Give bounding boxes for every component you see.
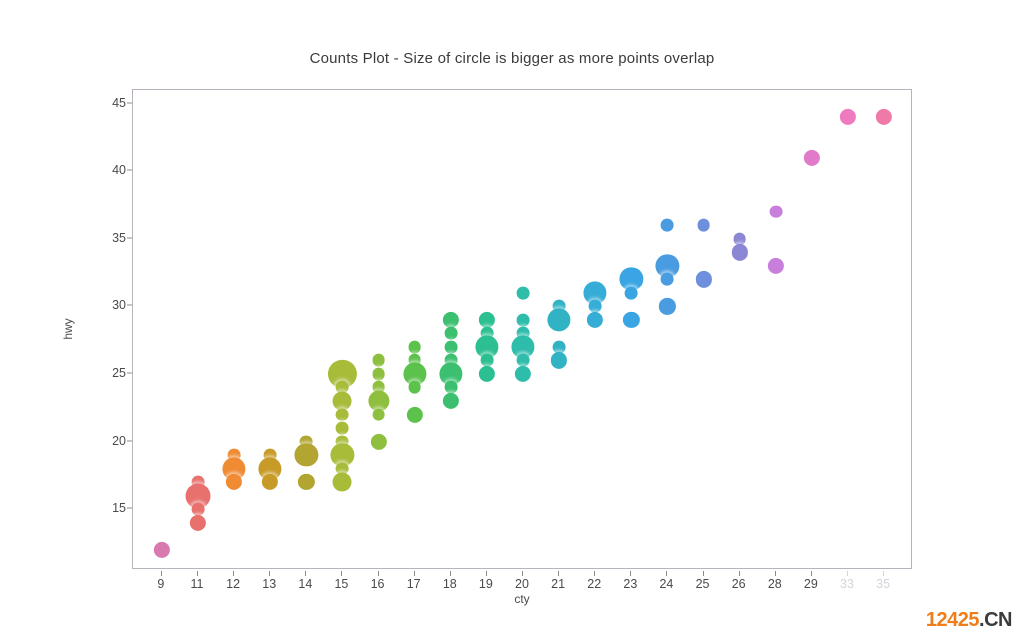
- x-axis-tick-label: 22: [587, 577, 601, 591]
- scatter-point: [333, 473, 352, 492]
- scatter-point: [372, 368, 385, 381]
- x-axis-tick-mark: [739, 571, 740, 576]
- scatter-point: [551, 352, 567, 368]
- y-axis-tick-label: 35: [112, 231, 126, 245]
- x-axis-tick-mark: [269, 571, 270, 576]
- scatter-point: [336, 408, 349, 421]
- scatter-point: [444, 327, 457, 340]
- figure-canvas: Counts Plot - Size of circle is bigger a…: [0, 0, 1024, 640]
- x-axis-tick-label: 29: [804, 577, 818, 591]
- scatter-point: [295, 443, 318, 466]
- page-title: Counts Plot - Size of circle is bigger a…: [0, 50, 1024, 67]
- y-axis-label: hwy: [61, 318, 75, 339]
- scatter-point: [661, 273, 674, 286]
- x-axis-tick-mark: [486, 571, 487, 576]
- scatter-point: [695, 271, 711, 287]
- x-axis-tick-mark: [450, 571, 451, 576]
- x-axis-tick-mark: [630, 571, 631, 576]
- scatter-point: [190, 515, 206, 531]
- scatter-point: [659, 298, 675, 314]
- x-axis-tick-mark: [558, 571, 559, 576]
- y-axis-ticks: 15202530354045: [92, 89, 126, 569]
- x-axis-tick-mark: [161, 571, 162, 576]
- watermark-suffix: .CN: [979, 609, 1012, 631]
- x-axis-tick-mark: [883, 571, 884, 576]
- plot-area: [132, 89, 912, 569]
- x-axis-tick-label: 24: [659, 577, 673, 591]
- scatter-point: [625, 286, 638, 299]
- scatter-point: [517, 313, 530, 326]
- x-axis-tick-mark: [666, 571, 667, 576]
- scatter-point: [154, 542, 170, 558]
- x-axis-tick-mark: [847, 571, 848, 576]
- x-axis-tick-label: 28: [768, 577, 782, 591]
- x-axis-tick-label: 18: [443, 577, 457, 591]
- y-axis-tick-label: 20: [112, 434, 126, 448]
- y-axis-tick-label: 40: [112, 163, 126, 177]
- x-axis-tick-mark: [233, 571, 234, 576]
- x-axis-tick-label: 17: [407, 577, 421, 591]
- x-axis-tick-label: 20: [515, 577, 529, 591]
- x-axis-tick-label: 35: [876, 577, 890, 591]
- scatter-point: [479, 312, 495, 328]
- x-axis-tick-label: 9: [157, 577, 164, 591]
- scatter-point: [408, 381, 421, 394]
- scatter-point: [336, 422, 349, 435]
- x-axis-tick-label: 16: [371, 577, 385, 591]
- x-axis-tick-mark: [594, 571, 595, 576]
- scatter-point: [840, 109, 856, 125]
- scatter-point: [769, 205, 782, 218]
- scatter-point: [804, 149, 820, 165]
- scatter-points-layer: [133, 90, 911, 568]
- scatter-point: [876, 109, 892, 125]
- scatter-point: [697, 219, 710, 232]
- x-axis-tick-label: 11: [191, 577, 204, 591]
- x-axis-tick-mark: [378, 571, 379, 576]
- watermark: 12425.CN: [926, 609, 1012, 632]
- x-axis-tick-mark: [522, 571, 523, 576]
- x-axis-tick-label: 33: [840, 577, 854, 591]
- x-axis-tick-label: 19: [479, 577, 493, 591]
- x-axis-tick-mark: [414, 571, 415, 576]
- x-axis-tick-mark: [811, 571, 812, 576]
- x-axis-tick-label: 23: [623, 577, 637, 591]
- y-axis-tick-label: 25: [112, 366, 126, 380]
- scatter-point: [444, 340, 457, 353]
- scatter-point: [661, 219, 674, 232]
- x-axis-tick-mark: [341, 571, 342, 576]
- scatter-point: [226, 474, 242, 490]
- scatter-point: [623, 312, 639, 328]
- scatter-point: [370, 433, 386, 449]
- x-axis-tick-label: 21: [551, 577, 565, 591]
- watermark-number: 12425: [926, 609, 979, 631]
- scatter-point: [587, 312, 603, 328]
- x-axis-tick-mark: [305, 571, 306, 576]
- x-axis-tick-label: 12: [226, 577, 240, 591]
- y-axis-tick-label: 15: [112, 501, 126, 515]
- scatter-point: [262, 474, 278, 490]
- x-axis-label: cty: [132, 592, 912, 606]
- scatter-point: [479, 366, 495, 382]
- x-axis-tick-label: 26: [732, 577, 746, 591]
- scatter-point: [407, 406, 423, 422]
- scatter-point: [372, 354, 385, 367]
- scatter-point: [515, 366, 531, 382]
- y-axis-tick-label: 45: [112, 96, 126, 110]
- scatter-point: [298, 474, 314, 490]
- scatter-point: [372, 408, 385, 421]
- x-axis-tick-label: 25: [696, 577, 710, 591]
- y-axis-tick-label: 30: [112, 298, 126, 312]
- x-axis-tick-mark: [703, 571, 704, 576]
- scatter-point: [443, 312, 459, 328]
- scatter-point: [443, 393, 459, 409]
- x-axis-tick-label: 14: [298, 577, 312, 591]
- scatter-point: [768, 258, 784, 274]
- scatter-point: [548, 308, 571, 331]
- scatter-point: [517, 286, 530, 299]
- x-axis-tick-mark: [775, 571, 776, 576]
- scatter-point: [732, 244, 748, 260]
- x-axis-tick-label: 15: [334, 577, 348, 591]
- scatter-point: [408, 340, 421, 353]
- x-axis-tick-mark: [197, 571, 198, 576]
- x-axis-tick-label: 13: [262, 577, 276, 591]
